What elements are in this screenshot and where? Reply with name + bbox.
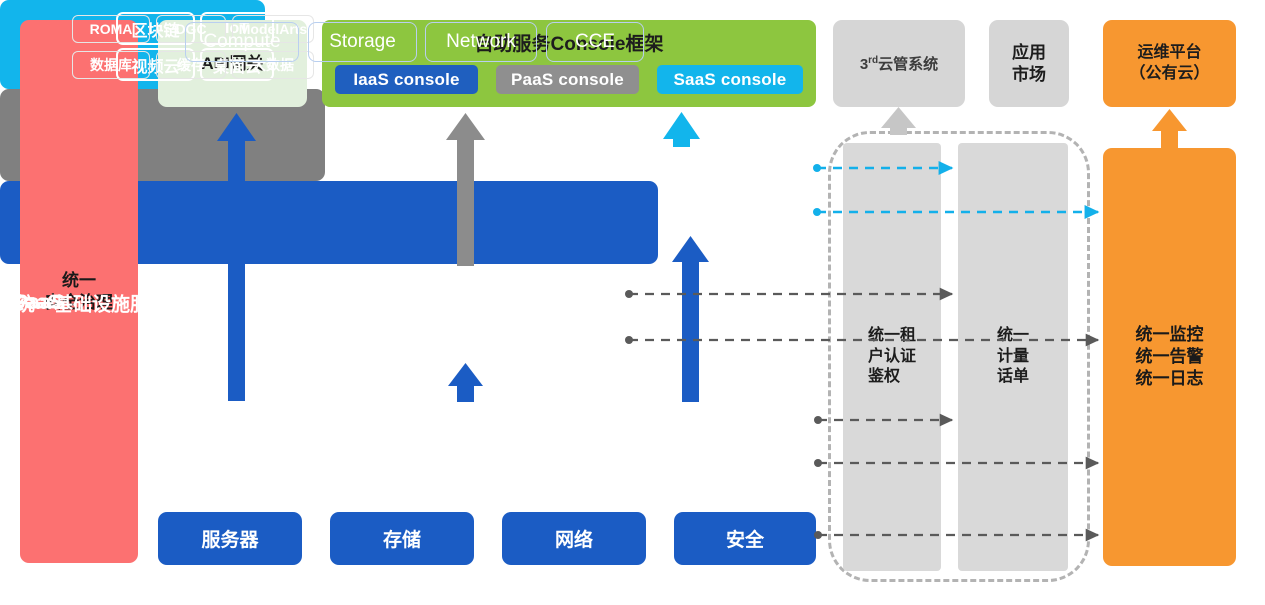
application-market-box: 应用 市场 [989, 20, 1069, 107]
infra-chip-network[interactable]: Network [425, 22, 537, 62]
hardware-box-server[interactable]: 服务器 [158, 512, 302, 565]
unified-monitoring-label: 统一监控 统一告警 统一日志 [1136, 324, 1204, 389]
saas-console-chip[interactable]: SaaS console [657, 65, 803, 94]
third-party-cloud-management-box: 3rd云管系统 [833, 20, 965, 107]
unified-metering-billing-label: 统一 计量 话单 [997, 326, 1029, 387]
third-party-cloud-management-label: 3rd云管系统 [860, 53, 938, 74]
application-market-label: 应用 市场 [1012, 42, 1046, 86]
ops-platform-header-box: 运维平台 （公有云） [1103, 20, 1236, 107]
arrow-infra-to-saas [672, 236, 709, 402]
paas-chip-roma[interactable]: ROMA [72, 15, 150, 43]
infra-chip-storage[interactable]: Storage [308, 22, 417, 62]
infra-chip-cce[interactable]: CCE [546, 22, 644, 62]
architecture-diagram: 统一 安全治理 API网关 自助服务Console框架 IaaS console… [0, 0, 1265, 605]
unified-infrastructure-service-label: 统一基础设施服务 [16, 289, 168, 316]
hardware-box-storage[interactable]: 存储 [330, 512, 474, 565]
paas-chip-database[interactable]: 数据库 [72, 51, 150, 79]
unified-tenant-auth-column: 统一租 户认证 鉴权 [843, 143, 941, 571]
arrow-ops-column-to-ops-header [1152, 109, 1187, 148]
hardware-box-security[interactable]: 安全 [674, 512, 816, 565]
iaas-console-chip[interactable]: IaaS console [335, 65, 478, 94]
ops-platform-header-label: 运维平台 （公有云） [1129, 43, 1209, 84]
arrow-infra-to-paas [448, 363, 483, 402]
unified-monitoring-column: 统一监控 统一告警 统一日志 [1103, 148, 1236, 566]
paas-console-chip[interactable]: PaaS console [496, 65, 639, 94]
unified-tenant-auth-label: 统一租 户认证 鉴权 [868, 326, 916, 387]
arrow-saas-to-saas-console [663, 112, 700, 147]
hardware-box-network[interactable]: 网络 [502, 512, 646, 565]
unified-metering-billing-column: 统一 计量 话单 [958, 143, 1068, 571]
infra-chip-compute[interactable]: Compute [185, 22, 299, 62]
